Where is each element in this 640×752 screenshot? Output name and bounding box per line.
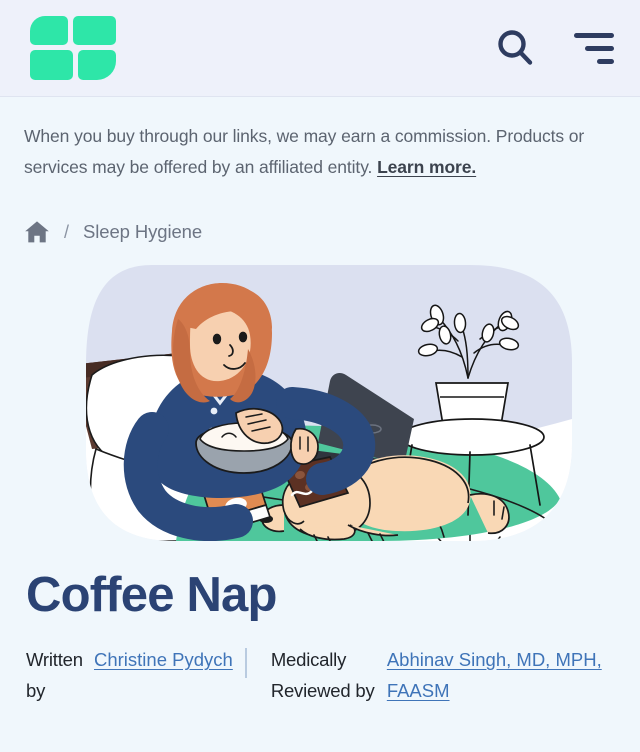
byline-author: Written by Christine Pydych — [26, 644, 233, 706]
header-actions — [494, 27, 614, 69]
menu-line-1 — [574, 33, 614, 38]
affiliate-disclosure: When you buy through our links, we may e… — [0, 97, 640, 189]
breadcrumb-item-sleep-hygiene[interactable]: Sleep Hygiene — [83, 221, 202, 243]
menu-line-2 — [585, 46, 614, 51]
menu-button[interactable] — [574, 33, 614, 64]
logo-tile-top-left — [30, 16, 68, 45]
site-logo[interactable] — [30, 16, 116, 80]
written-by-label: Written by — [26, 644, 94, 706]
hero-artwork — [0, 253, 640, 553]
breadcrumb: / Sleep Hygiene — [0, 189, 640, 251]
byline: Written by Christine Pydych Medically Re… — [0, 622, 640, 706]
page-title: Coffee Nap — [0, 553, 640, 622]
logo-tile-bottom-left — [30, 50, 73, 80]
hero-illustration — [0, 253, 640, 553]
hamburger-icon — [574, 33, 614, 64]
breadcrumb-separator: / — [64, 222, 69, 243]
author-link[interactable]: Christine Pydych — [94, 644, 233, 675]
breadcrumb-home-link[interactable] — [24, 220, 50, 244]
logo-tile-bottom-right — [78, 50, 116, 80]
search-icon — [494, 27, 536, 69]
table-top — [400, 419, 544, 455]
byline-reviewer: Medically Reviewed by Abhinav Singh, MD,… — [271, 644, 637, 706]
right-hand — [291, 429, 318, 464]
menu-line-3 — [597, 59, 614, 64]
site-header — [0, 0, 640, 97]
search-button[interactable] — [494, 27, 536, 69]
logo-tile-top-right — [73, 16, 116, 45]
reviewer-link[interactable]: Abhinav Singh, MD, MPH, FAASM — [387, 644, 637, 706]
medically-reviewed-by-label: Medically Reviewed by — [271, 644, 387, 706]
byline-divider — [245, 648, 247, 678]
learn-more-link[interactable]: Learn more. — [377, 157, 476, 177]
disclosure-text: When you buy through our links, we may e… — [24, 126, 584, 177]
home-icon — [24, 220, 50, 244]
